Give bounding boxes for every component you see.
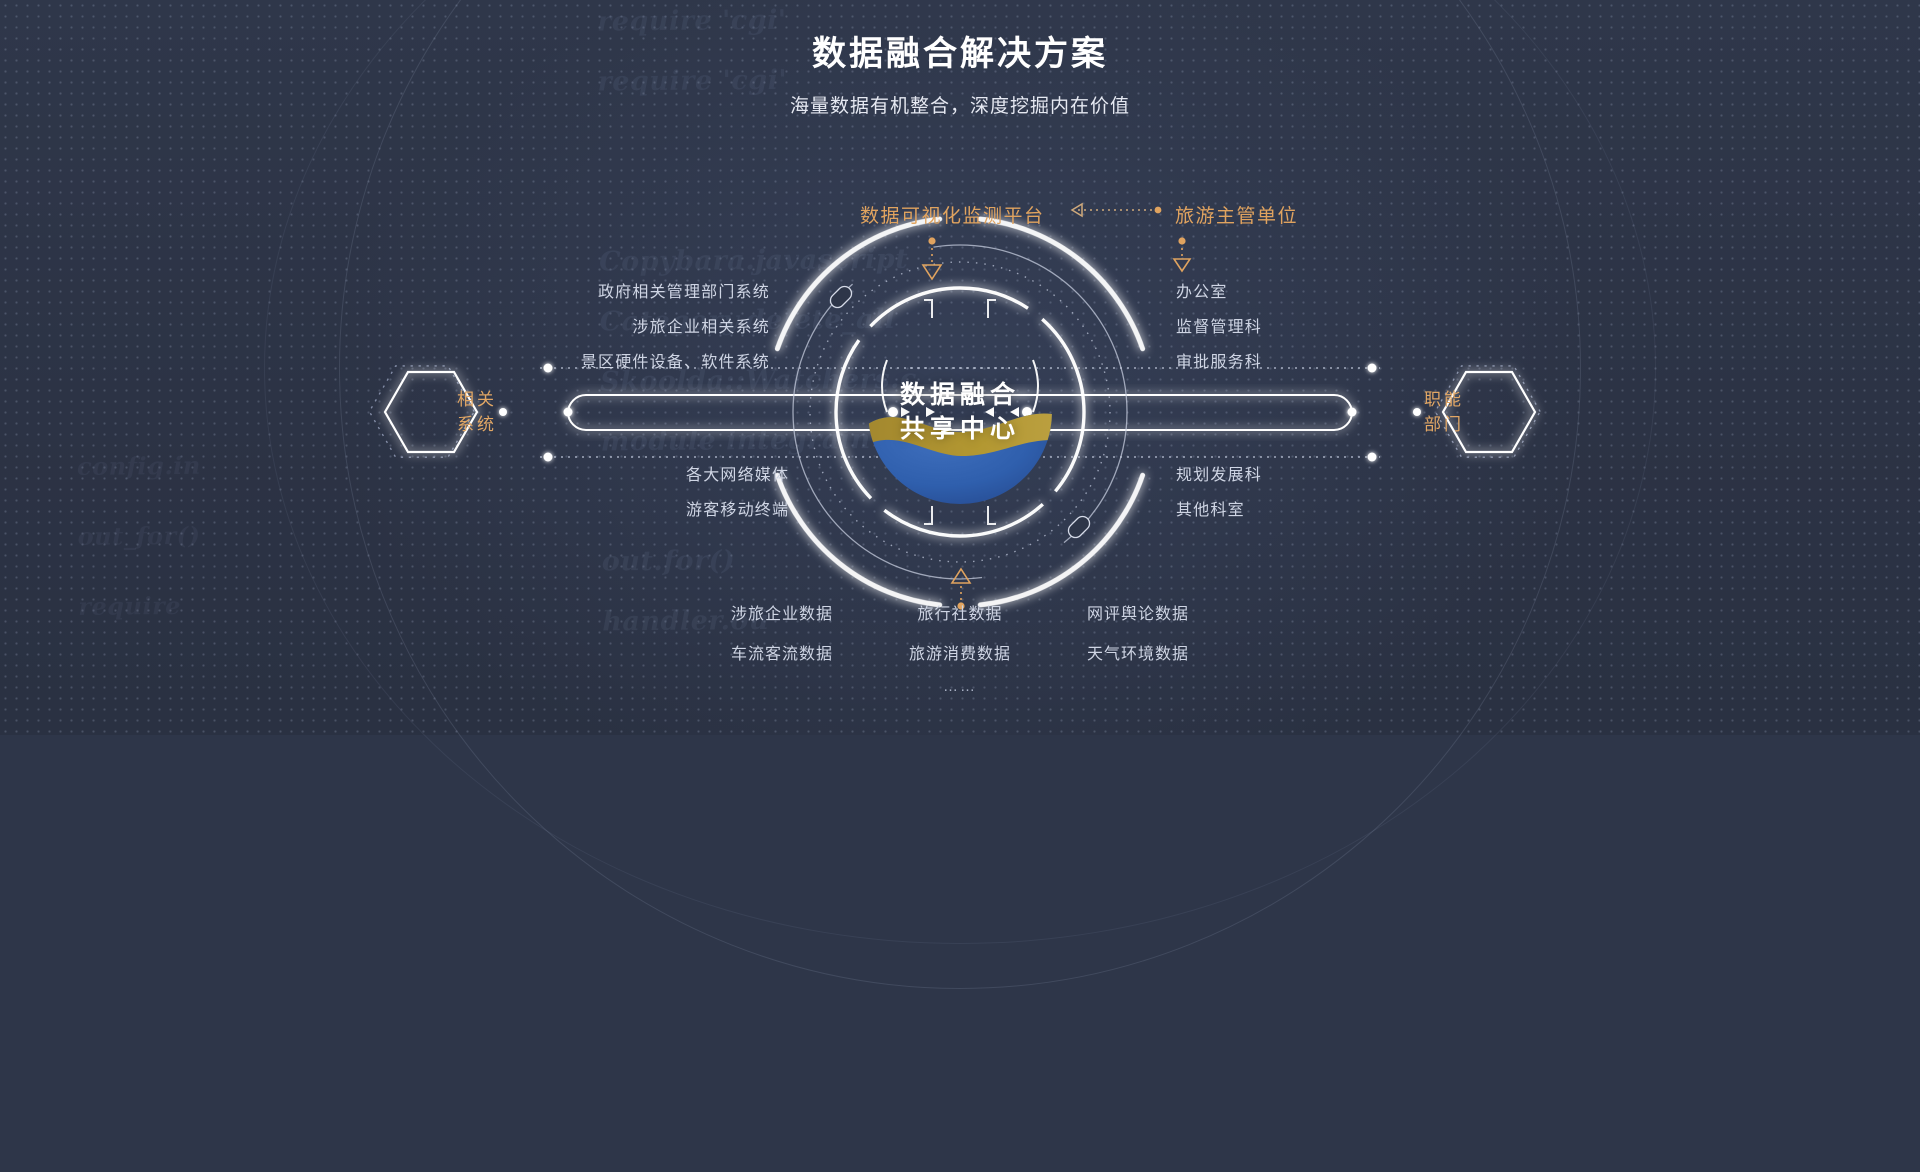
label-tourism-authority[interactable]: 旅游主管单位 — [1175, 201, 1298, 228]
bottom-data-item-3[interactable]: 车流客流数据 — [707, 640, 857, 664]
bottom-data-item-5[interactable]: 天气环境数据 — [1063, 640, 1213, 664]
pointer-top-left — [923, 237, 941, 279]
right-dept-item-1[interactable]: 监督管理科 — [1176, 313, 1262, 337]
bottom-data-item-1[interactable]: 旅行社数据 — [885, 600, 1035, 624]
right-dept-item-3[interactable]: 规划发展科 — [1176, 461, 1262, 485]
hexagon-left-wrap[interactable]: 相关 系统 — [411, 342, 543, 482]
label-visualization-platform[interactable]: 数据可视化监测平台 — [860, 201, 1045, 228]
left-source-item-2[interactable]: 景区硬件设备、软件系统 — [581, 348, 770, 372]
hexagon-left-line1: 相关 — [457, 387, 497, 412]
left-source-item-0[interactable]: 政府相关管理部门系统 — [598, 278, 770, 302]
left-source-item-3[interactable]: 各大网络媒体 — [686, 461, 789, 485]
hexagon-right-wrap[interactable]: 职能 部门 — [1378, 342, 1510, 482]
core-sphere — [868, 320, 1052, 510]
bottom-data-item-2[interactable]: 网评舆论数据 — [1063, 600, 1213, 624]
bottom-data-item-4[interactable]: 旅游消费数据 — [885, 640, 1035, 664]
right-dept-item-2[interactable]: 审批服务科 — [1176, 348, 1262, 372]
pointer-top-right — [1174, 237, 1190, 271]
right-dept-item-0[interactable]: 办公室 — [1176, 278, 1228, 302]
hexagon-right-line1: 职能 — [1424, 387, 1464, 412]
infographic-stage: require 'cgi' require 'cgi' Copybara.jav… — [0, 0, 1920, 735]
bottom-data-more: …… — [943, 678, 977, 695]
right-dept-item-4[interactable]: 其他科室 — [1176, 496, 1245, 520]
bottom-data-item-0[interactable]: 涉旅企业数据 — [707, 600, 857, 624]
top-label-link-arrow — [1072, 204, 1161, 216]
left-source-item-4[interactable]: 游客移动终端 — [686, 496, 789, 520]
hexagon-right-label: 职能 部门 — [1378, 342, 1510, 482]
left-source-item-1[interactable]: 涉旅企业相关系统 — [632, 313, 770, 337]
hexagon-left-label: 相关 系统 — [411, 342, 543, 482]
bottom-data-grid: 涉旅企业数据 旅行社数据 网评舆论数据 车流客流数据 旅游消费数据 天气环境数据 — [707, 600, 1213, 664]
hexagon-left-line2: 系统 — [457, 412, 497, 437]
hexagon-right-line2: 部门 — [1424, 412, 1464, 437]
